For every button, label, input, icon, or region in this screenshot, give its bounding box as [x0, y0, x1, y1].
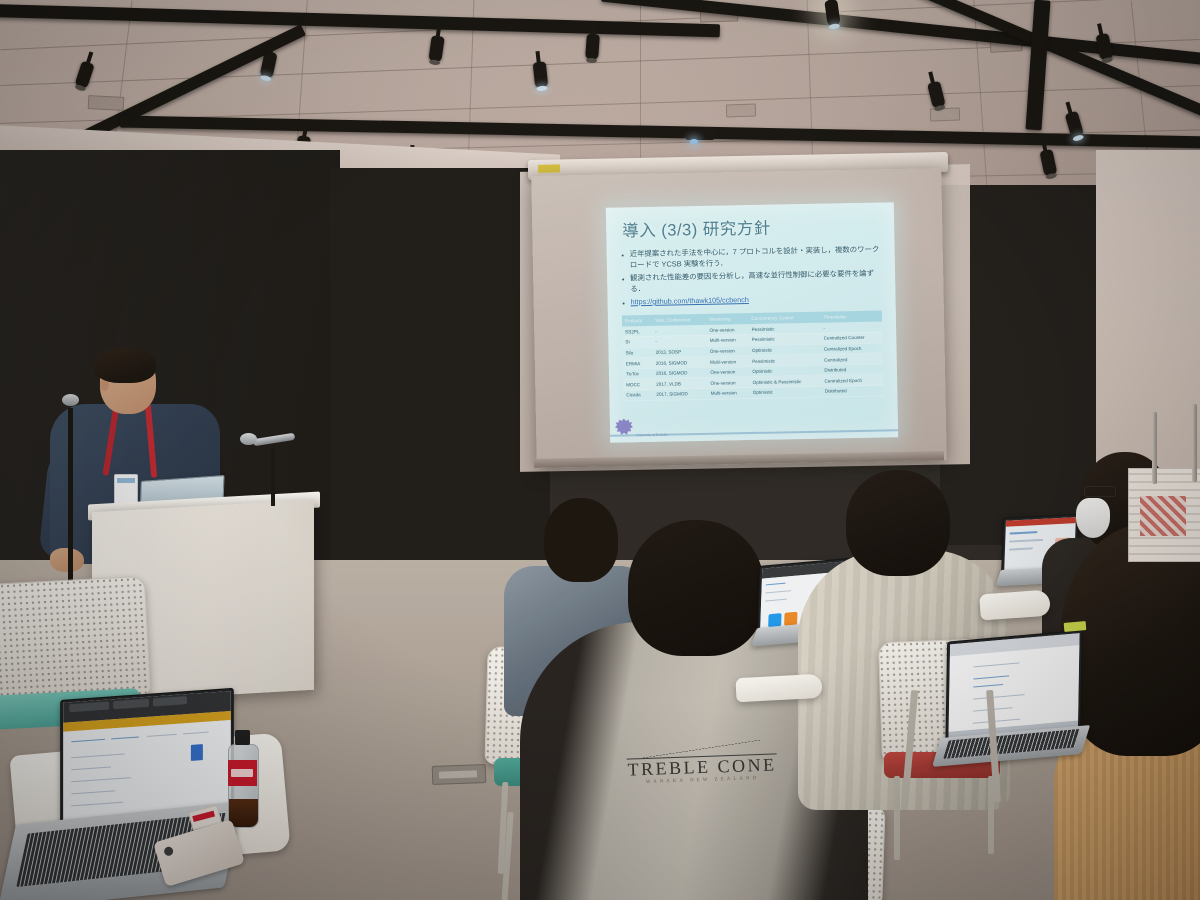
browser-tab[interactable]: [113, 699, 149, 710]
rack-pole: [1192, 404, 1197, 482]
laptop-screen: [948, 633, 1079, 741]
university-crest-icon: [615, 418, 637, 440]
mic-stand-pole: [271, 448, 275, 506]
cell-concurrency: Optimistic: [750, 386, 822, 398]
cell-protocol: Cicada: [623, 390, 653, 401]
spotlight: [585, 34, 600, 61]
rack-pole: [1152, 412, 1157, 484]
cell-versioning: One-version: [707, 366, 749, 377]
projector: [686, 127, 714, 140]
cell-protocol: ERMIA: [623, 358, 653, 369]
housing-label: [538, 164, 560, 172]
bottle-cap: [235, 730, 250, 745]
cell-versioning: One-version: [707, 377, 749, 388]
presenter-hand: [50, 548, 84, 572]
cola-bottle: [228, 730, 257, 826]
cell-timestamp: Distributed: [822, 385, 884, 397]
cell-protocol: Silo: [622, 347, 652, 358]
glasses-icon: [1084, 486, 1116, 497]
wall-dark-center: [330, 168, 550, 598]
chair-back: [0, 576, 151, 704]
browser-tab[interactable]: [153, 696, 187, 706]
slide-title: 導入 (3/3) 研究方針: [622, 215, 771, 242]
slide-bullet: 観測された性能差の要因を分析し，高速な並行性制御に必要な要件を論ずる．: [621, 268, 883, 294]
bottle-contents: [229, 799, 258, 827]
cell-protocol: SI: [622, 336, 652, 347]
treble-cone-logo: TREBLE CONE WANAKA NEW ZEALAND: [615, 739, 789, 791]
floor-power-outlet: [432, 764, 487, 785]
cell-versioning: One-version: [707, 345, 749, 356]
wall-light-right: [1096, 150, 1200, 480]
bottle-body: [228, 744, 259, 828]
tablet-arm-desk-right: [979, 590, 1051, 621]
face-mask: [1076, 498, 1110, 538]
microphone-head: [240, 433, 257, 445]
tablet-arm-desk-center: [735, 674, 822, 702]
spotlight: [533, 61, 549, 88]
table-header-cell: Protocol: [622, 315, 652, 327]
attendee-head: [628, 520, 764, 656]
cell-versioning: Multi-version: [707, 334, 749, 345]
slide-link-url[interactable]: https://github.com/thawk105/ccbench: [630, 295, 748, 306]
cell-year: 2017, SIGMOD: [653, 388, 708, 400]
sticky-note: [1064, 621, 1087, 632]
slide-bullets: 近年提案された手法を中心に，7 プロトコルを設計・実装し，複数のワークロードで …: [621, 244, 884, 310]
bottle-label: [228, 760, 257, 786]
microphone-head: [62, 394, 79, 406]
table-header-cell: Versioning: [706, 313, 748, 325]
cell-protocol: TicToc: [623, 368, 653, 379]
cell-protocol: MOCC: [623, 379, 653, 390]
page-header-bar: [1006, 517, 1076, 527]
lecture-hall-photo: 導入 (3/3) 研究方針 近年提案された手法を中心に，7 プロトコルを設計・実…: [0, 0, 1200, 900]
cell-versioning: Multi-version: [707, 356, 749, 367]
slide-bullet-link: https://github.com/thawk105/ccbench: [621, 292, 883, 308]
presenter-hair: [94, 347, 156, 383]
cell-protocol: SS2PL: [622, 326, 652, 337]
browser-tab[interactable]: [69, 702, 109, 713]
shelf-contents: [1140, 496, 1186, 536]
attendee-head: [846, 470, 950, 576]
presentation-slide: 導入 (3/3) 研究方針 近年提案された手法を中心に，7 プロトコルを設計・実…: [606, 202, 898, 442]
chair-leg: [894, 776, 900, 860]
slide-bullet: 近年提案された手法を中心に，7 プロトコルを設計・実装し，複数のワークロードで …: [621, 244, 883, 270]
mic-stand-pole: [68, 408, 73, 588]
cell-versioning: Multi-version: [708, 388, 750, 399]
protocol-table: Protocol Year, Conference Versioning Con…: [622, 311, 884, 402]
attendee-head: [544, 498, 618, 582]
